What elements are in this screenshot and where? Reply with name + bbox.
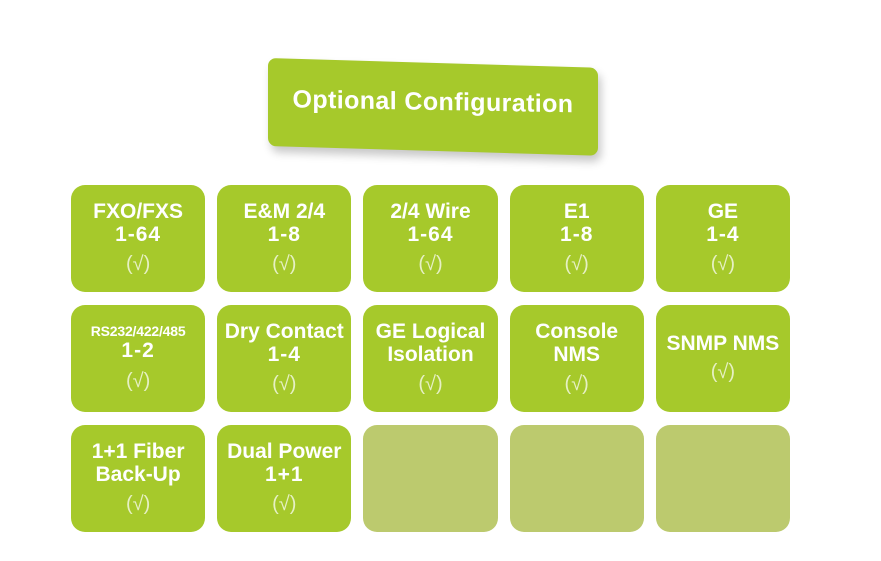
config-tile[interactable]: 1+1 Fiber Back-Up(√) [71, 425, 205, 532]
config-tile-empty [510, 425, 644, 532]
config-tile[interactable]: Dry Contact1-4(√) [217, 305, 351, 412]
config-tile-check-icon: (√) [126, 494, 150, 514]
config-tile[interactable]: GE1-4(√) [656, 185, 790, 292]
config-tile-title: FXO/FXS [93, 201, 183, 224]
config-tile-title: Console NMS [512, 321, 642, 366]
config-tile-range: 1-4 [268, 343, 301, 367]
config-tile[interactable]: E&M 2/41-8(√) [217, 185, 351, 292]
config-tile-title: Dry Contact [225, 321, 344, 344]
config-tile-check-icon: (√) [418, 374, 442, 394]
config-tile-title: E1 [564, 201, 590, 224]
config-tile-title: SNMP NMS [666, 333, 779, 356]
config-tile[interactable]: FXO/FXS1-64(√) [71, 185, 205, 292]
config-tile-title: GE Logical Isolation [365, 321, 495, 366]
config-tile-check-icon: (√) [565, 254, 589, 274]
config-tile-check-icon: (√) [711, 362, 735, 382]
config-tile-range: 1+1 [265, 463, 304, 487]
config-tile-check-icon: (√) [272, 494, 296, 514]
config-tile-title: 2/4 Wire [390, 201, 470, 224]
config-tile-range: 1-64 [115, 223, 161, 247]
config-tile-check-icon: (√) [565, 374, 589, 394]
config-tile[interactable]: RS232/422/4851-2(√) [71, 305, 205, 412]
config-tile-title: 1+1 Fiber Back-Up [73, 441, 203, 486]
config-tile-title: E&M 2/4 [243, 201, 325, 224]
config-tile-range: 1-8 [268, 223, 301, 247]
config-tile-check-icon: (√) [272, 254, 296, 274]
config-tile-range: 1-8 [560, 223, 593, 247]
config-tile-check-icon: (√) [418, 254, 442, 274]
config-tile[interactable]: Console NMS(√) [510, 305, 644, 412]
config-tile[interactable]: GE Logical Isolation(√) [363, 305, 497, 412]
config-tile-empty [656, 425, 790, 532]
banner-title: Optional Configuration [268, 58, 598, 152]
config-tile[interactable]: 2/4 Wire1-64(√) [363, 185, 497, 292]
config-tile-title: RS232/422/485 [91, 324, 186, 339]
config-tile-range: 1-64 [407, 223, 453, 247]
config-tile-title: GE [708, 201, 738, 224]
config-tile-check-icon: (√) [126, 254, 150, 274]
config-tile-check-icon: (√) [126, 371, 150, 391]
config-tile[interactable]: SNMP NMS(√) [656, 305, 790, 412]
optional-configuration-banner: Optional Configuration [268, 58, 598, 146]
config-tile[interactable]: E11-8(√) [510, 185, 644, 292]
config-tile-check-icon: (√) [272, 374, 296, 394]
config-tile-range: 1-4 [706, 223, 739, 247]
config-tile-check-icon: (√) [711, 254, 735, 274]
config-tile-title: Dual Power [227, 441, 341, 464]
config-tile-empty [363, 425, 497, 532]
config-tile-range: 1-2 [121, 339, 154, 363]
configuration-tile-grid: FXO/FXS1-64(√)E&M 2/41-8(√)2/4 Wire1-64(… [71, 185, 790, 532]
config-tile[interactable]: Dual Power1+1(√) [217, 425, 351, 532]
